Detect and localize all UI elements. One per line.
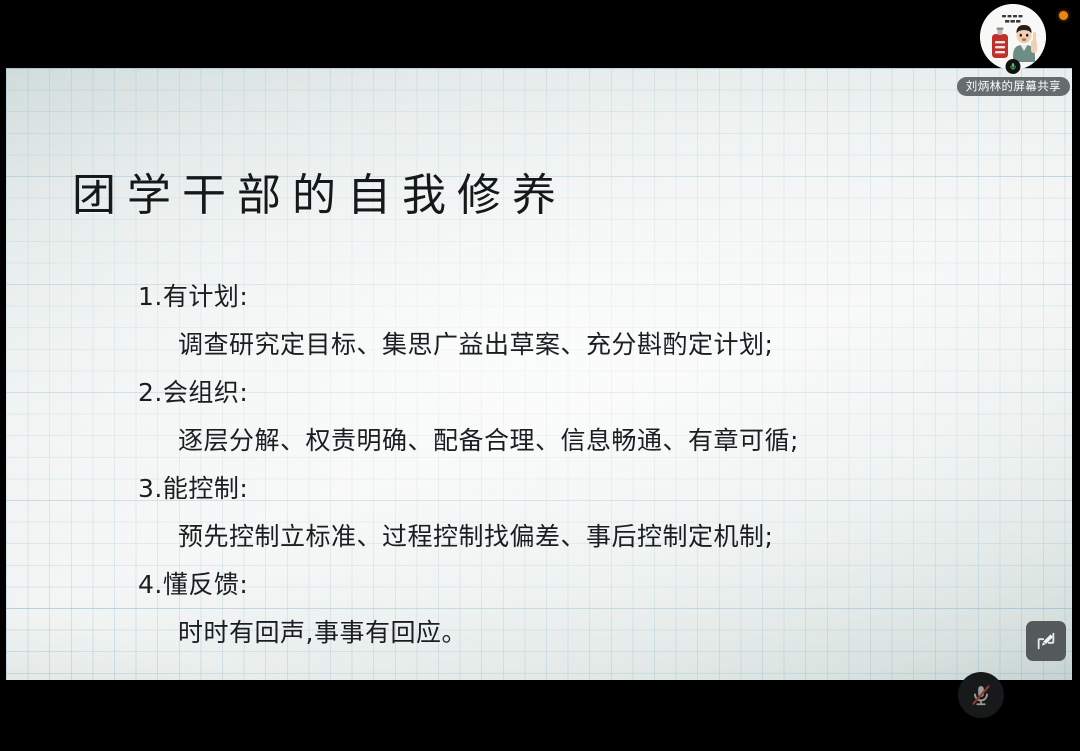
bullet-group: 2.会组织: 逐层分解、权责明确、配备合理、信息畅通、有章可循; xyxy=(138,376,1032,458)
presenter-mic-badge xyxy=(1006,59,1021,74)
microphone-toggle-button[interactable] xyxy=(958,672,1004,718)
bullet-detail: 调查研究定目标、集思广益出草案、充分斟酌定计划; xyxy=(138,328,1032,362)
screen-share-label: 刘炳林的屏幕共享 xyxy=(957,77,1070,96)
annotate-button[interactable] xyxy=(1026,621,1066,661)
bullet-group: 4.懂反馈: 时时有回声,事事有回应。 xyxy=(138,568,1032,650)
slide-title: 团学干部的自我修养 xyxy=(72,174,567,218)
meeting-screen-share-view: 团学干部的自我修养 1.有计划: 调查研究定目标、集思广益出草案、充分斟酌定计划… xyxy=(0,0,1080,751)
microphone-icon xyxy=(1009,62,1018,71)
bullet-group: 1.有计划: 调查研究定目标、集思广益出草案、充分斟酌定计划; xyxy=(138,280,1032,362)
annotate-pencil-icon xyxy=(1035,630,1057,652)
bullet-heading: 1.有计划: xyxy=(138,280,1032,314)
bullet-heading: 4.懂反馈: xyxy=(138,568,1032,602)
slide-content: 团学干部的自我修养 1.有计划: 调查研究定目标、集思广益出草案、充分斟酌定计划… xyxy=(6,68,1072,680)
bullet-group: 3.能控制: 预先控制立标准、过程控制找偏差、事后控制定机制; xyxy=(138,472,1032,554)
bullet-heading: 3.能控制: xyxy=(138,472,1032,506)
shared-screen-region[interactable]: 团学干部的自我修养 1.有计划: 调查研究定目标、集思广益出草案、充分斟酌定计划… xyxy=(6,68,1072,680)
microphone-muted-icon xyxy=(967,681,995,709)
slide-bullet-list: 1.有计划: 调查研究定目标、集思广益出草案、充分斟酌定计划; 2.会组织: 逐… xyxy=(138,280,1032,664)
bullet-detail: 预先控制立标准、过程控制找偏差、事后控制定机制; xyxy=(138,520,1032,554)
presenter-video-tile[interactable] xyxy=(980,4,1046,70)
bullet-detail: 逐层分解、权责明确、配备合理、信息畅通、有章可循; xyxy=(138,424,1032,458)
bullet-heading: 2.会组织: xyxy=(138,376,1032,410)
bullet-detail: 时时有回声,事事有回应。 xyxy=(138,616,1032,650)
recording-dot xyxy=(1059,11,1068,20)
